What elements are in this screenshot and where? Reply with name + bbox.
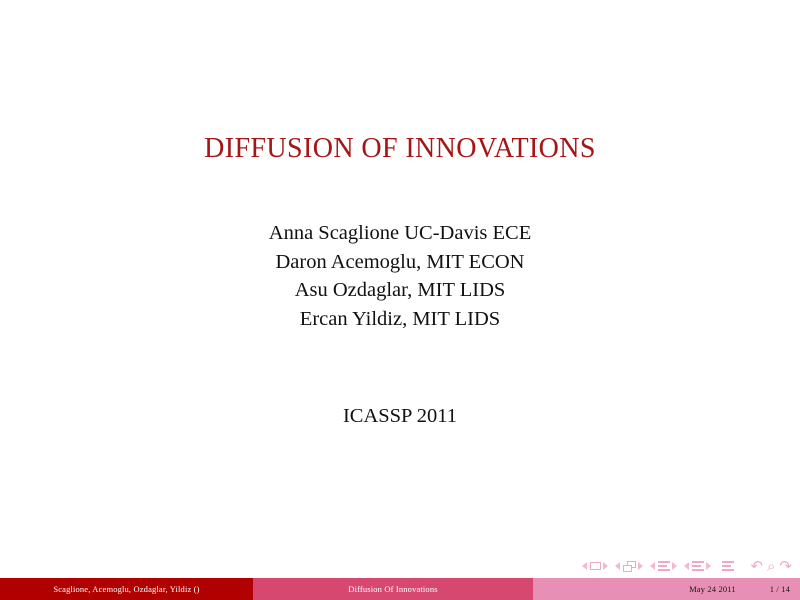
presentation-slide: DIFFUSION OF INNOVATIONS Anna Scaglione …: [0, 0, 800, 600]
footer-authors: Scaglione, Acemoglu, Ozdaglar, Yildiz (): [0, 578, 253, 600]
previous-subsection-icon[interactable]: [650, 562, 655, 570]
venue-text: ICASSP 2011: [0, 403, 800, 429]
presentation-nav-icon[interactable]: [722, 561, 734, 570]
line-2: [722, 565, 731, 567]
page-title: DIFFUSION OF INNOVATIONS: [0, 134, 800, 165]
footer-date: May 24 2011: [689, 584, 736, 594]
subsection-nav-icon[interactable]: [658, 561, 670, 570]
footer-meta: May 24 2011 1 / 14: [533, 578, 800, 600]
footer-page-number: 1 / 14: [770, 584, 790, 594]
search-icon[interactable]: ⌕: [767, 559, 775, 574]
line-2: [658, 565, 667, 567]
footer-presentation-title: Diffusion Of Innovations: [253, 578, 533, 600]
history-nav-group[interactable]: ↶ ⌕ ↷: [750, 559, 792, 574]
title-block: DIFFUSION OF INNOVATIONS: [0, 134, 800, 165]
venue-block: ICASSP 2011: [0, 403, 800, 429]
beamer-navigation-bar[interactable]: ↶ ⌕ ↷: [582, 556, 792, 576]
previous-slide-icon[interactable]: [582, 562, 587, 570]
back-arrow-icon[interactable]: ↶: [750, 559, 763, 574]
next-section-icon[interactable]: [706, 562, 711, 570]
line-3: [722, 569, 734, 571]
previous-section-icon[interactable]: [684, 562, 689, 570]
line-1: [692, 561, 704, 563]
footer-bar: Scaglione, Acemoglu, Ozdaglar, Yildiz ()…: [0, 578, 800, 600]
line-1: [658, 561, 670, 563]
section-nav-group[interactable]: [684, 561, 711, 570]
presentation-nav-group[interactable]: [722, 561, 734, 570]
slide-nav-group[interactable]: [582, 562, 608, 570]
line-2: [692, 565, 701, 567]
author-line: Ercan Yildiz, MIT LIDS: [0, 305, 800, 334]
author-line: Daron Acemoglu, MIT ECON: [0, 248, 800, 277]
subsection-nav-group[interactable]: [650, 561, 677, 570]
section-nav-icon[interactable]: [692, 561, 704, 570]
frame-nav-icon[interactable]: [623, 561, 636, 572]
slide-nav-icon[interactable]: [590, 562, 601, 570]
previous-frame-icon[interactable]: [615, 562, 620, 570]
forward-arrow-icon[interactable]: ↷: [779, 559, 792, 574]
author-line: Asu Ozdaglar, MIT LIDS: [0, 276, 800, 305]
next-subsection-icon[interactable]: [672, 562, 677, 570]
line-1: [722, 561, 734, 563]
author-line: Anna Scaglione UC-Davis ECE: [0, 219, 800, 248]
author-list: Anna Scaglione UC-Davis ECE Daron Acemog…: [0, 219, 800, 333]
frame-front-shape: [623, 565, 632, 572]
line-3: [692, 569, 704, 571]
next-frame-icon[interactable]: [638, 562, 643, 570]
frame-nav-group[interactable]: [615, 561, 643, 572]
line-3: [658, 569, 670, 571]
next-slide-icon[interactable]: [603, 562, 608, 570]
